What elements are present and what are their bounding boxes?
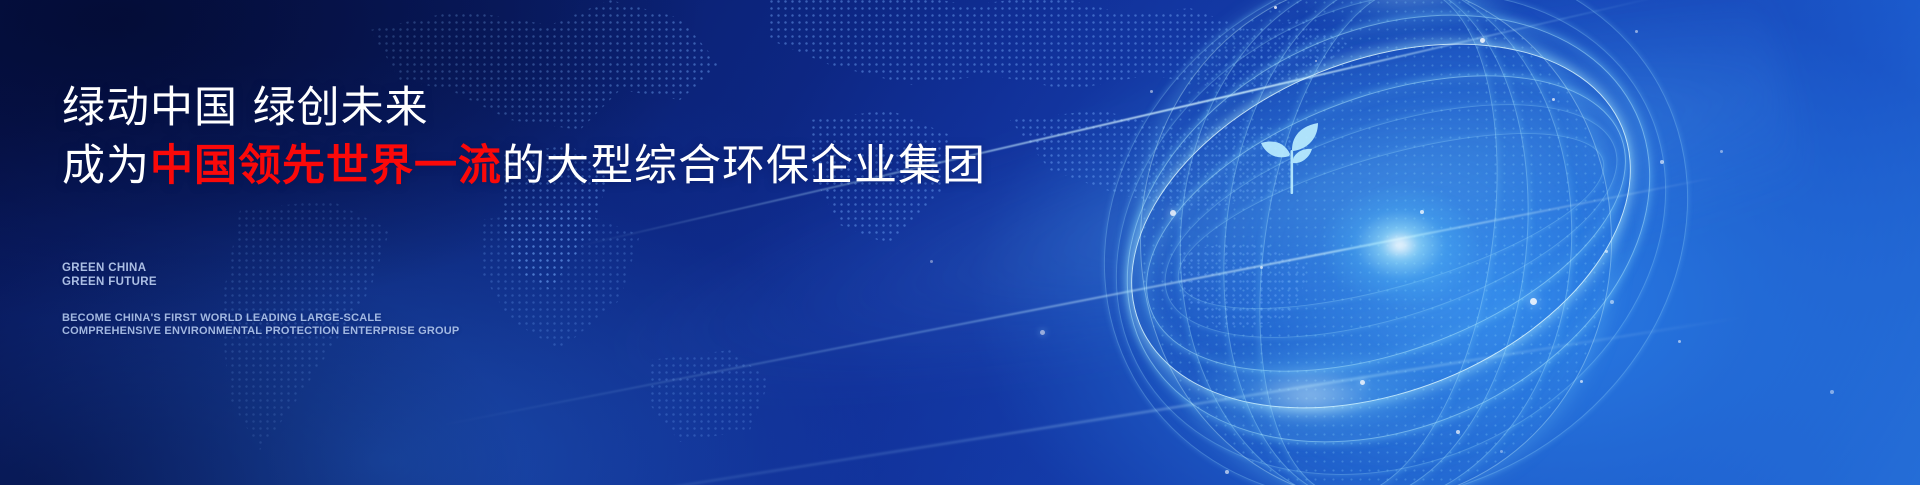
wireframe-globe (1060, 0, 1760, 485)
headline-line-1: 绿动中国 绿创未来 (62, 80, 1062, 136)
globe-highlight-core (1315, 180, 1485, 310)
slogan-en: GREEN CHINA GREEN FUTURE (62, 261, 157, 289)
headline-line-2-prefix: 成为 (62, 141, 150, 191)
globe-highlight-bottom (1180, 340, 1440, 450)
headline-line-2: 成为中国领先世界一流的大型综合环保企业集团 (62, 138, 1062, 194)
subtitle-en-line-1: BECOME CHINA'S FIRST WORLD LEADING LARGE… (62, 312, 459, 325)
globe-highlight-top (1290, 0, 1520, 40)
copy-block: 绿动中国 绿创未来 成为中国领先世界一流的大型综合环保企业集团 GREEN CH… (62, 0, 1022, 485)
slogan-en-line-2: GREEN FUTURE (62, 275, 157, 289)
subtitle-en-line-2: COMPREHENSIVE ENVIRONMENTAL PROTECTION E… (62, 325, 459, 338)
headline-line-2-suffix: 的大型综合环保企业集团 (502, 141, 986, 191)
subtitle-en: BECOME CHINA'S FIRST WORLD LEADING LARGE… (62, 312, 459, 338)
headline: 绿动中国 绿创未来 成为中国领先世界一流的大型综合环保企业集团 (62, 80, 1062, 194)
headline-line-2-accent: 中国领先世界一流 (150, 141, 502, 191)
hero-banner: 绿动中国 绿创未来 成为中国领先世界一流的大型综合环保企业集团 GREEN CH… (0, 0, 1920, 485)
sprout-leaf-icon (1252, 110, 1332, 196)
slogan-en-line-1: GREEN CHINA (62, 261, 157, 275)
